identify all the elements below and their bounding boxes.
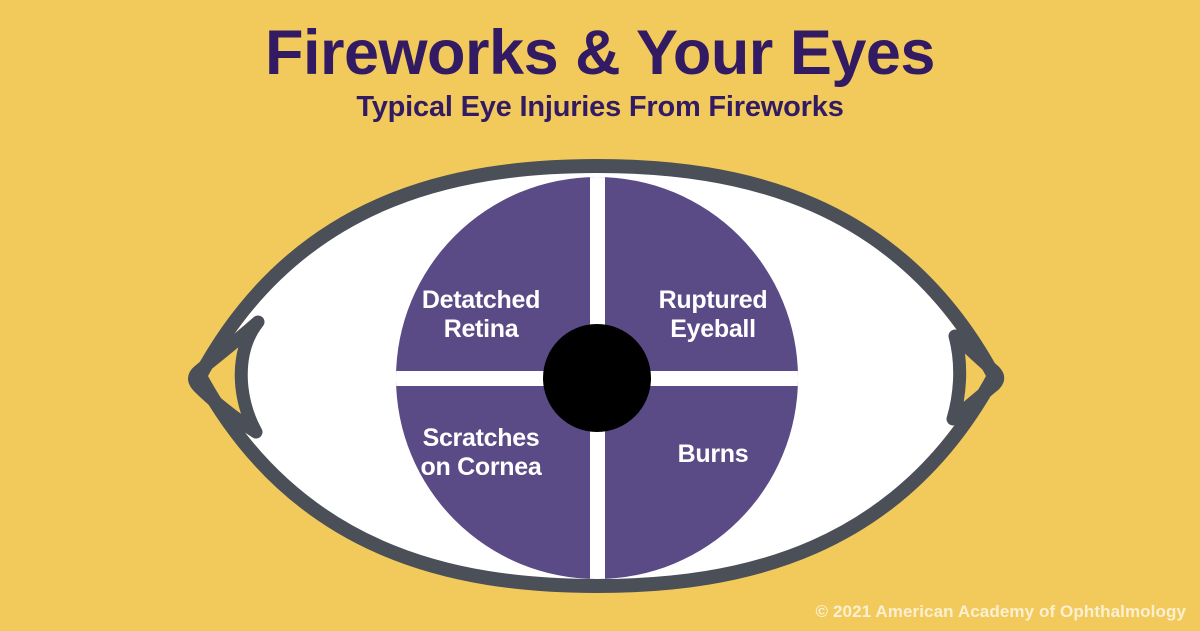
page-title: Fireworks & Your Eyes [0, 0, 1200, 87]
quadrant-label-scratches-on-cornea: Scratches on Cornea [386, 424, 576, 482]
page-subtitle: Typical Eye Injuries From Fireworks [0, 87, 1200, 124]
infographic-canvas: Fireworks & Your Eyes Typical Eye Injuri… [0, 0, 1200, 631]
quadrant-label-detached-retina: Detatched Retina [386, 286, 576, 344]
copyright-credit: © 2021 American Academy of Ophthalmology [816, 601, 1186, 623]
header: Fireworks & Your Eyes Typical Eye Injuri… [0, 0, 1200, 124]
quadrant-label-burns: Burns [618, 440, 808, 469]
quadrant-label-ruptured-eyeball: Ruptured Eyeball [618, 286, 808, 344]
